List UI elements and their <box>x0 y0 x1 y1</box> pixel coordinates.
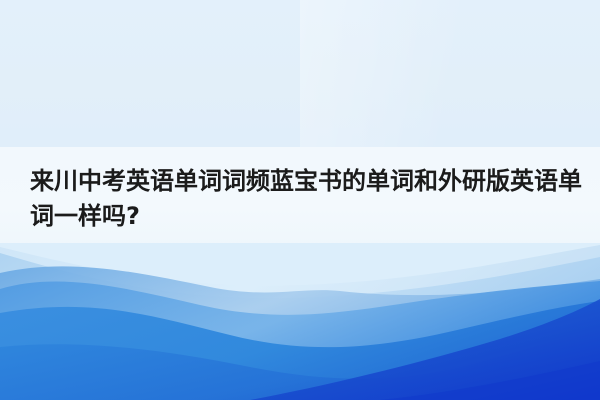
cover-banner: 来川中考英语单词词频蓝宝书的单词和外研版英语单词一样吗? <box>0 0 600 400</box>
wave-decoration <box>0 243 600 400</box>
page-title: 来川中考英语单词词频蓝宝书的单词和外研版英语单词一样吗? <box>30 164 582 234</box>
top-background-band <box>0 0 600 147</box>
